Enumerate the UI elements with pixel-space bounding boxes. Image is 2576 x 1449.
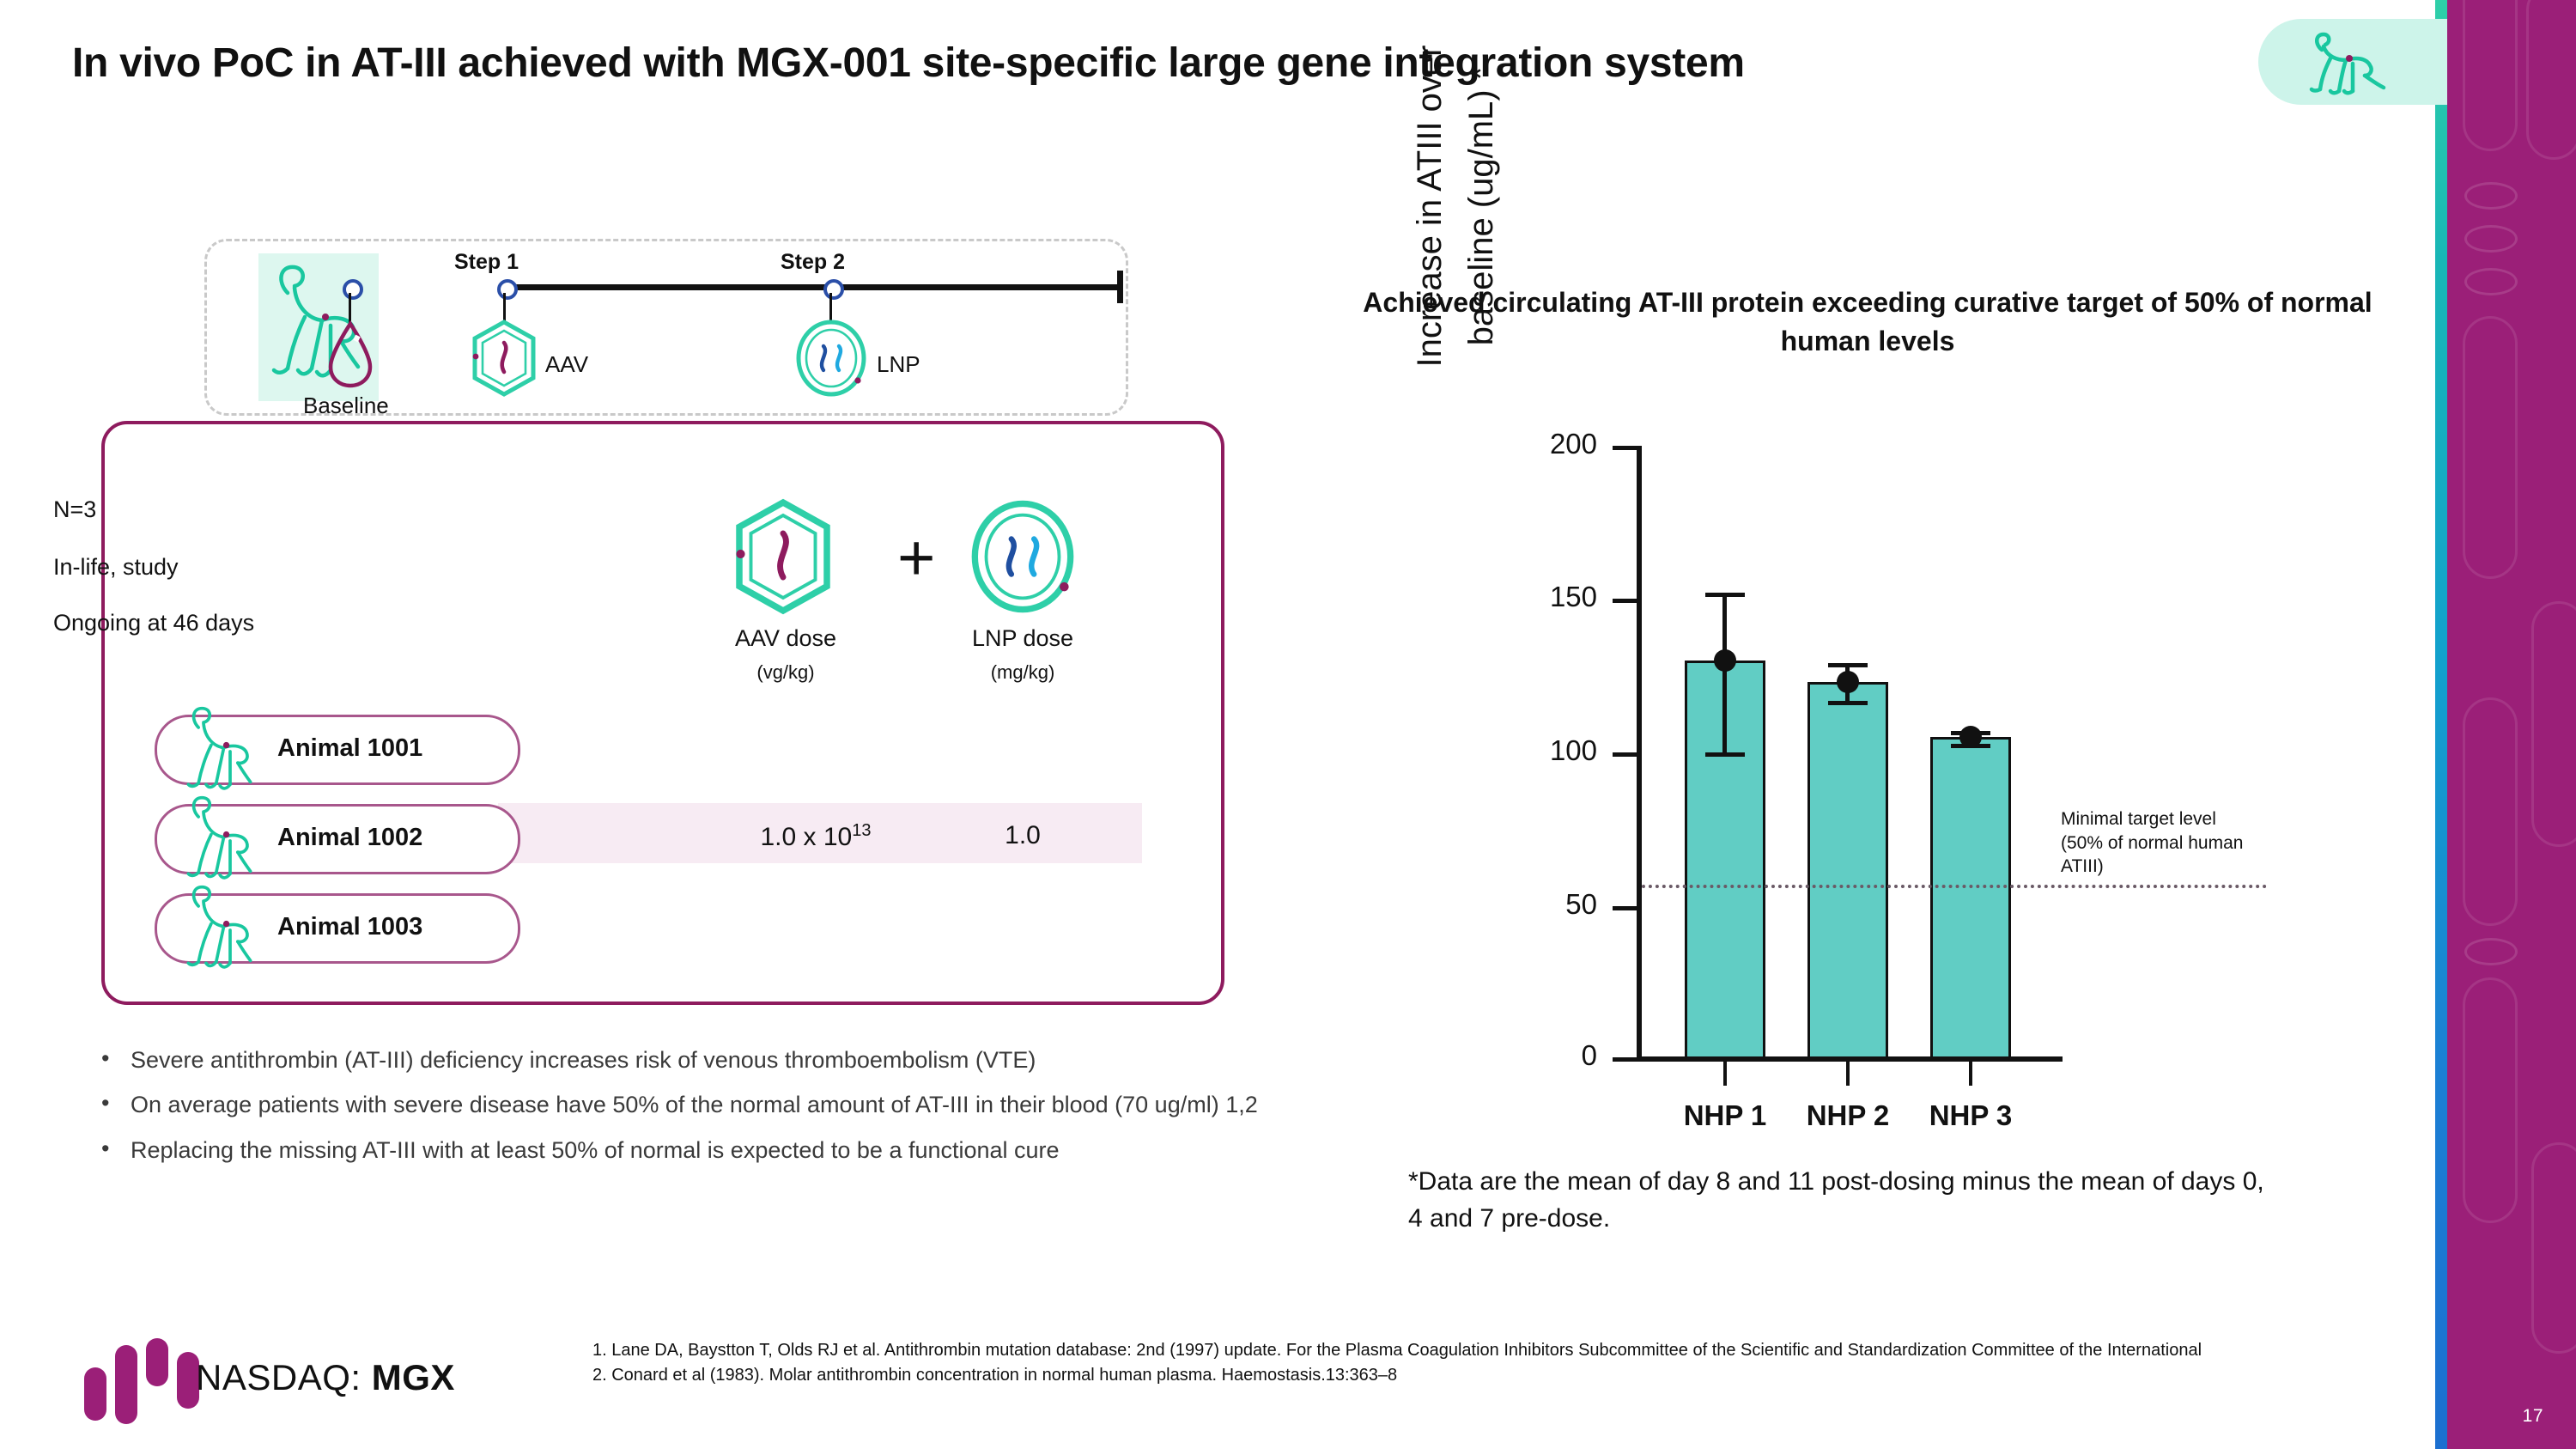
timeline-node-baseline [343, 279, 363, 300]
slide-root: 17 In vivo PoC in AT-III achieved with M… [0, 0, 2576, 1449]
card-line-inlife: In-life, study [53, 554, 179, 581]
x-tick-nhp-3 [1969, 1062, 1972, 1086]
error-cap-top-nhp-1 [1705, 593, 1745, 597]
y-tick-50 [1613, 906, 1640, 910]
decor-ellipse [2464, 225, 2518, 253]
reference-line-label-2: (50% of normal human [2061, 831, 2318, 855]
timeline-caption-aav: AAV [545, 351, 588, 378]
logo-prefix: NASDAQ: [196, 1357, 372, 1397]
edge-magenta-panel: 17 [2447, 0, 2576, 1449]
lnp-circle-icon [969, 496, 1077, 617]
monkey-icon [171, 698, 265, 800]
decor-capsule [2463, 316, 2518, 579]
animal-label: Animal 1001 [277, 734, 422, 763]
reference-item: 2. Conard et al (1983). Molar antithromb… [592, 1363, 2430, 1388]
data-point-nhp-1 [1714, 649, 1736, 672]
animal-label: Animal 1003 [277, 913, 422, 941]
error-bar-nhp-1 [1722, 593, 1727, 756]
reference-line-label-3: ATIII) [2061, 855, 2318, 879]
timeline-node-step1 [497, 279, 518, 300]
y-tick-label-50: 50 [1494, 888, 1597, 921]
y-tick-200 [1613, 446, 1640, 450]
reference-line-minimal-target [1642, 885, 2267, 888]
timeline-caption-baseline: Baseline [303, 393, 389, 419]
dose-title-lnp: LNP dose [941, 625, 1104, 652]
decor-ellipse [2464, 268, 2518, 295]
monkey-icon [171, 788, 265, 889]
decor-capsule [2463, 977, 2518, 1223]
decor-capsule [2463, 0, 2518, 151]
error-cap-bottom-nhp-1 [1705, 752, 1745, 757]
y-tick-label-150: 150 [1494, 581, 1597, 613]
x-tick-nhp-1 [1723, 1062, 1727, 1086]
y-tick-label-200: 200 [1494, 428, 1597, 460]
timeline-step-label: Step 2 [781, 250, 845, 275]
timeline-panel: Baseline Step 1 AAV Step 2 LNP [204, 239, 1128, 416]
reference-line-label-1: Minimal target level [2061, 807, 2318, 831]
chart-footnote: *Data are the mean of day 8 and 11 post-… [1408, 1164, 2267, 1237]
timeline-axis [502, 284, 1122, 290]
list-item: Replacing the missing AT-III with at lea… [86, 1134, 1357, 1166]
logo-ticker: MGX [372, 1357, 455, 1397]
animal-row-1002[interactable]: Animal 1002 [155, 804, 520, 874]
decor-ellipse [2464, 938, 2518, 965]
x-tick-nhp-2 [1846, 1062, 1850, 1086]
y-tick-label-0: 0 [1494, 1039, 1597, 1072]
timeline-node-step2 [823, 279, 844, 300]
dose-value-lnp: 1.0 [941, 821, 1104, 850]
list-item: On average patients with severe disease … [86, 1088, 1357, 1121]
animal-label: Animal 1002 [277, 824, 422, 852]
timeline-end-cap [1117, 271, 1123, 303]
nasdaq-logo-text: NASDAQ: MGX [196, 1357, 455, 1398]
data-point-nhp-2 [1837, 671, 1859, 693]
reference-line-label: Minimal target level (50% of normal huma… [2061, 807, 2318, 879]
dose-value-aav: 1.0 x 1013 [734, 821, 897, 852]
dose-units-aav: (vg/kg) [704, 661, 867, 684]
decor-capsule [2463, 697, 2518, 926]
animal-row-1001[interactable]: Animal 1001 [155, 715, 520, 785]
reference-list: 1. Lane DA, Baystton T, Olds RJ et al. A… [592, 1338, 2430, 1388]
error-cap-top-nhp-2 [1828, 663, 1868, 667]
hexagon-capsid-icon [732, 496, 835, 617]
dose-units-lnp: (mg/kg) [941, 661, 1104, 684]
bar-nhp-2 [1807, 682, 1888, 1059]
hexagon-capsid-icon [470, 319, 538, 398]
list-item: Severe antithrombin (AT-III) deficiency … [86, 1044, 1357, 1076]
y-tick-150 [1613, 599, 1640, 603]
y-tick-0 [1613, 1057, 1640, 1062]
bullet-list: Severe antithrombin (AT-III) deficiency … [86, 1044, 1357, 1178]
decor-capsule [2526, 0, 2576, 160]
monkey-icon [171, 877, 265, 978]
card-line-n: N=3 [53, 496, 96, 523]
data-point-nhp-3 [1959, 726, 1982, 748]
chart-ylabel-line2: baseline (ug/mL) * [1460, 0, 1504, 481]
animal-row-1003[interactable]: Animal 1003 [155, 893, 520, 964]
timeline-caption-lnp: LNP [877, 351, 920, 378]
edge-gradient-strip [2435, 0, 2447, 1449]
y-tick-100 [1613, 752, 1640, 757]
droplet-icon [320, 319, 380, 389]
dose-title-aav: AAV dose [704, 625, 867, 652]
dose-value-aav-exponent: 13 [852, 821, 871, 840]
page-number: 17 [2523, 1406, 2543, 1427]
monkey-badge [2258, 19, 2447, 105]
nasdaq-logo-mark [84, 1338, 213, 1429]
dose-value-aav-mantissa: 1.0 x 10 [761, 823, 853, 851]
reference-item: 1. Lane DA, Baystton T, Olds RJ et al. A… [592, 1338, 2430, 1363]
decor-capsule [2531, 1142, 2576, 1354]
error-cap-bottom-nhp-2 [1828, 701, 1868, 705]
lnp-circle-icon [794, 319, 868, 398]
chart-ylabel-line1: Increase in ATIII over [1408, 0, 1452, 481]
plus-symbol: + [897, 526, 935, 591]
card-line-ongoing: Ongoing at 46 days [53, 610, 254, 636]
bar-nhp-3 [1930, 737, 2011, 1059]
decor-capsule [2531, 601, 2576, 847]
x-label-nhp-3: NHP 3 [1893, 1099, 2048, 1132]
monkey-icon [2293, 24, 2404, 100]
y-tick-label-100: 100 [1494, 734, 1597, 767]
accent-dot [2346, 55, 2353, 62]
timeline-step-label: Step 1 [454, 250, 519, 275]
decor-ellipse [2464, 182, 2518, 210]
